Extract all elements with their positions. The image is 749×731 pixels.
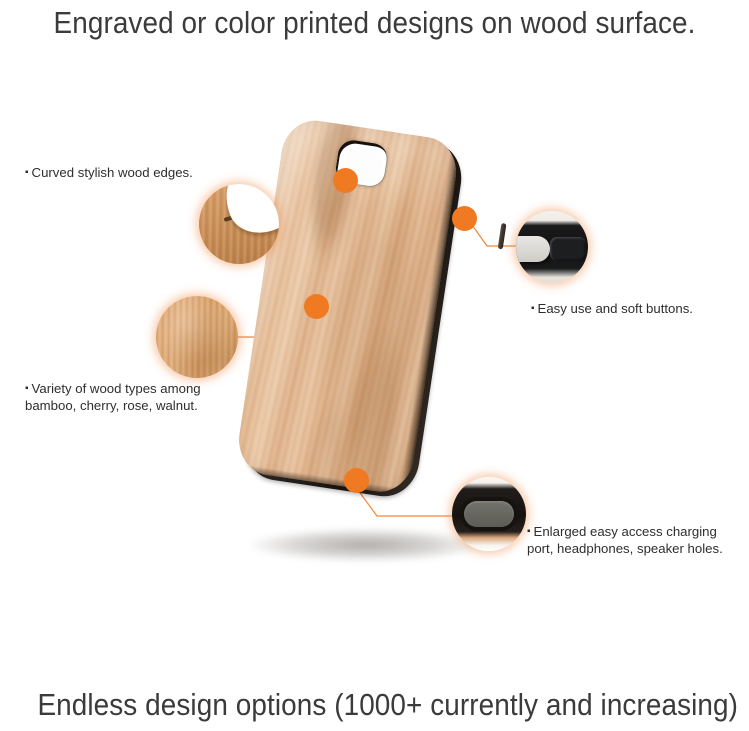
callout-text-curved-edges: Curved stylish wood edges. [32,165,193,180]
bullet-icon: ▪ [527,526,531,537]
callout-text-soft-buttons: Easy use and soft buttons. [538,301,693,316]
callout-dot-wood-types[interactable] [304,294,329,319]
callout-dot-soft-buttons[interactable] [452,206,477,231]
case-drop-shadow [248,528,484,562]
inset-curved-wood-edge [199,184,279,264]
callout-text-charging-port: Enlarged easy access charging port, head… [527,524,723,556]
callout-text-wood-types: Variety of wood types among bamboo, cher… [25,381,201,413]
page-title-top: Engraved or color printed designs on woo… [37,5,711,41]
inset-button-raised [550,237,586,261]
case-side-button [498,223,507,249]
callout-label-wood-types: ▪Variety of wood types among bamboo, che… [25,381,201,414]
bullet-icon: ▪ [25,383,29,394]
callout-label-charging-port: ▪Enlarged easy access charging port, hea… [527,524,723,557]
inset-wood-grain-swatch [156,296,238,378]
callout-dot-curved-edges[interactable] [333,168,358,193]
inset-side-buttons [516,211,588,283]
inset-charging-port [452,477,526,551]
callout-dot-charging-port[interactable] [344,468,369,493]
wood-phone-case [232,116,515,521]
inset-button-light [516,236,550,262]
inset-port-opening [464,501,514,527]
inset-wood-shading [156,296,238,378]
callout-label-soft-buttons: ▪Easy use and soft buttons. [531,301,693,318]
bullet-icon: ▪ [25,167,29,178]
bullet-icon: ▪ [531,303,535,314]
page-title-bottom: Endless design options (1000+ currently … [37,687,711,723]
callout-label-curved-edges: ▪Curved stylish wood edges. [25,165,193,182]
